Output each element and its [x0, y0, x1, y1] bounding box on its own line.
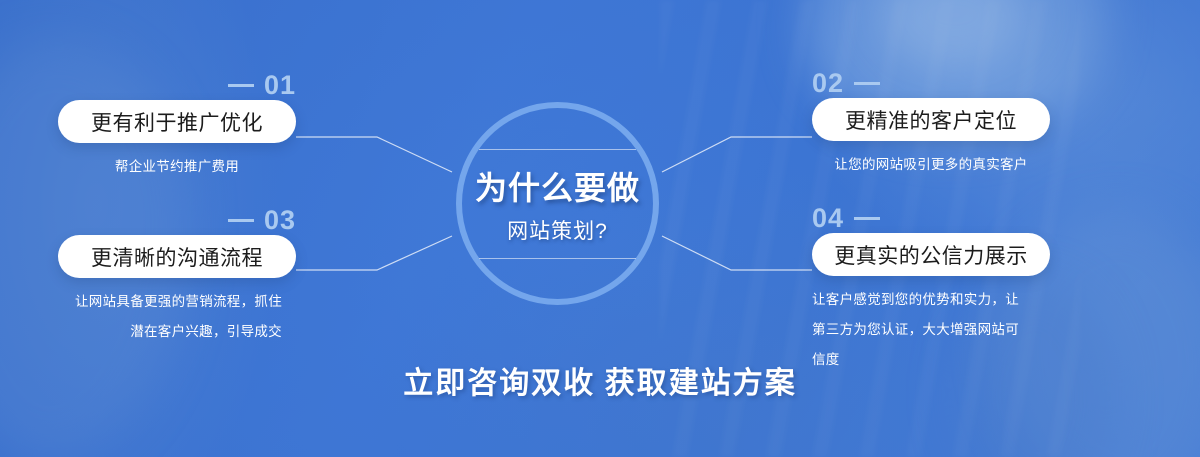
feature-desc-01: 帮企业节约推广费用: [58, 152, 296, 182]
feature-desc-04-line-2: 第三方为您认证，大大增强网站可: [812, 315, 1070, 345]
cta-text[interactable]: 立即咨询双收 获取建站方案: [403, 358, 797, 402]
dash-icon: [854, 82, 880, 85]
feature-title-03: 更清晰的沟通流程: [91, 242, 263, 272]
feature-desc-04-line-1: 让客户感觉到您的优势和实力，让: [812, 285, 1070, 315]
feature-number-01-label: 01: [264, 70, 296, 101]
promo-banner: 为什么要做 网站策划? 01 更有利于推广优化 帮企业节约推广费用 03 更清晰…: [0, 0, 1200, 457]
feature-pill-01[interactable]: 更有利于推广优化: [58, 100, 296, 143]
feature-number-03-label: 03: [264, 205, 296, 236]
feature-number-02-label: 02: [812, 68, 844, 99]
feature-number-04-label: 04: [812, 203, 844, 234]
feature-desc-03-line-2: 潜在客户兴趣，引导成交: [34, 317, 282, 347]
feature-desc-03: 让网站具备更强的营销流程，抓住 潜在客户兴趣，引导成交: [34, 287, 282, 347]
feature-number-03: 03: [58, 205, 296, 235]
feature-pill-04[interactable]: 更真实的公信力展示: [812, 233, 1050, 276]
center-rule-bottom: [479, 258, 636, 259]
center-subtitle: 网站策划?: [507, 215, 608, 245]
feature-number-04: 04: [812, 203, 1050, 233]
feature-item-01: 01 更有利于推广优化 帮企业节约推广费用: [58, 70, 296, 182]
feature-item-03: 03 更清晰的沟通流程 让网站具备更强的营销流程，抓住 潜在客户兴趣，引导成交: [58, 205, 296, 347]
feature-desc-03-line-1: 让网站具备更强的营销流程，抓住: [34, 287, 282, 317]
feature-title-01: 更有利于推广优化: [91, 107, 263, 137]
feature-item-02: 02 更精准的客户定位 让您的网站吸引更多的真实客户: [812, 68, 1050, 180]
dash-icon: [854, 217, 880, 220]
feature-number-02: 02: [812, 68, 1050, 98]
feature-pill-02[interactable]: 更精准的客户定位: [812, 98, 1050, 141]
feature-item-04: 04 更真实的公信力展示 让客户感觉到您的优势和实力，让 第三方为您认证，大大增…: [812, 203, 1050, 375]
cta-container: 立即咨询双收 获取建站方案: [0, 358, 1200, 402]
feature-title-04: 更真实的公信力展示: [834, 240, 1028, 270]
feature-desc-02: 让您的网站吸引更多的真实客户: [812, 150, 1050, 180]
center-circle-content: 为什么要做 网站策划?: [456, 102, 659, 305]
feature-desc-01-line-1: 帮企业节约推广费用: [58, 152, 296, 182]
dash-icon: [228, 84, 254, 87]
dash-icon: [228, 219, 254, 222]
feature-desc-02-line-1: 让您的网站吸引更多的真实客户: [812, 150, 1050, 180]
feature-number-01: 01: [58, 70, 296, 100]
center-rule-top: [479, 149, 636, 150]
feature-title-02: 更精准的客户定位: [845, 105, 1017, 135]
feature-pill-03[interactable]: 更清晰的沟通流程: [58, 235, 296, 278]
center-title: 为什么要做: [475, 163, 640, 209]
